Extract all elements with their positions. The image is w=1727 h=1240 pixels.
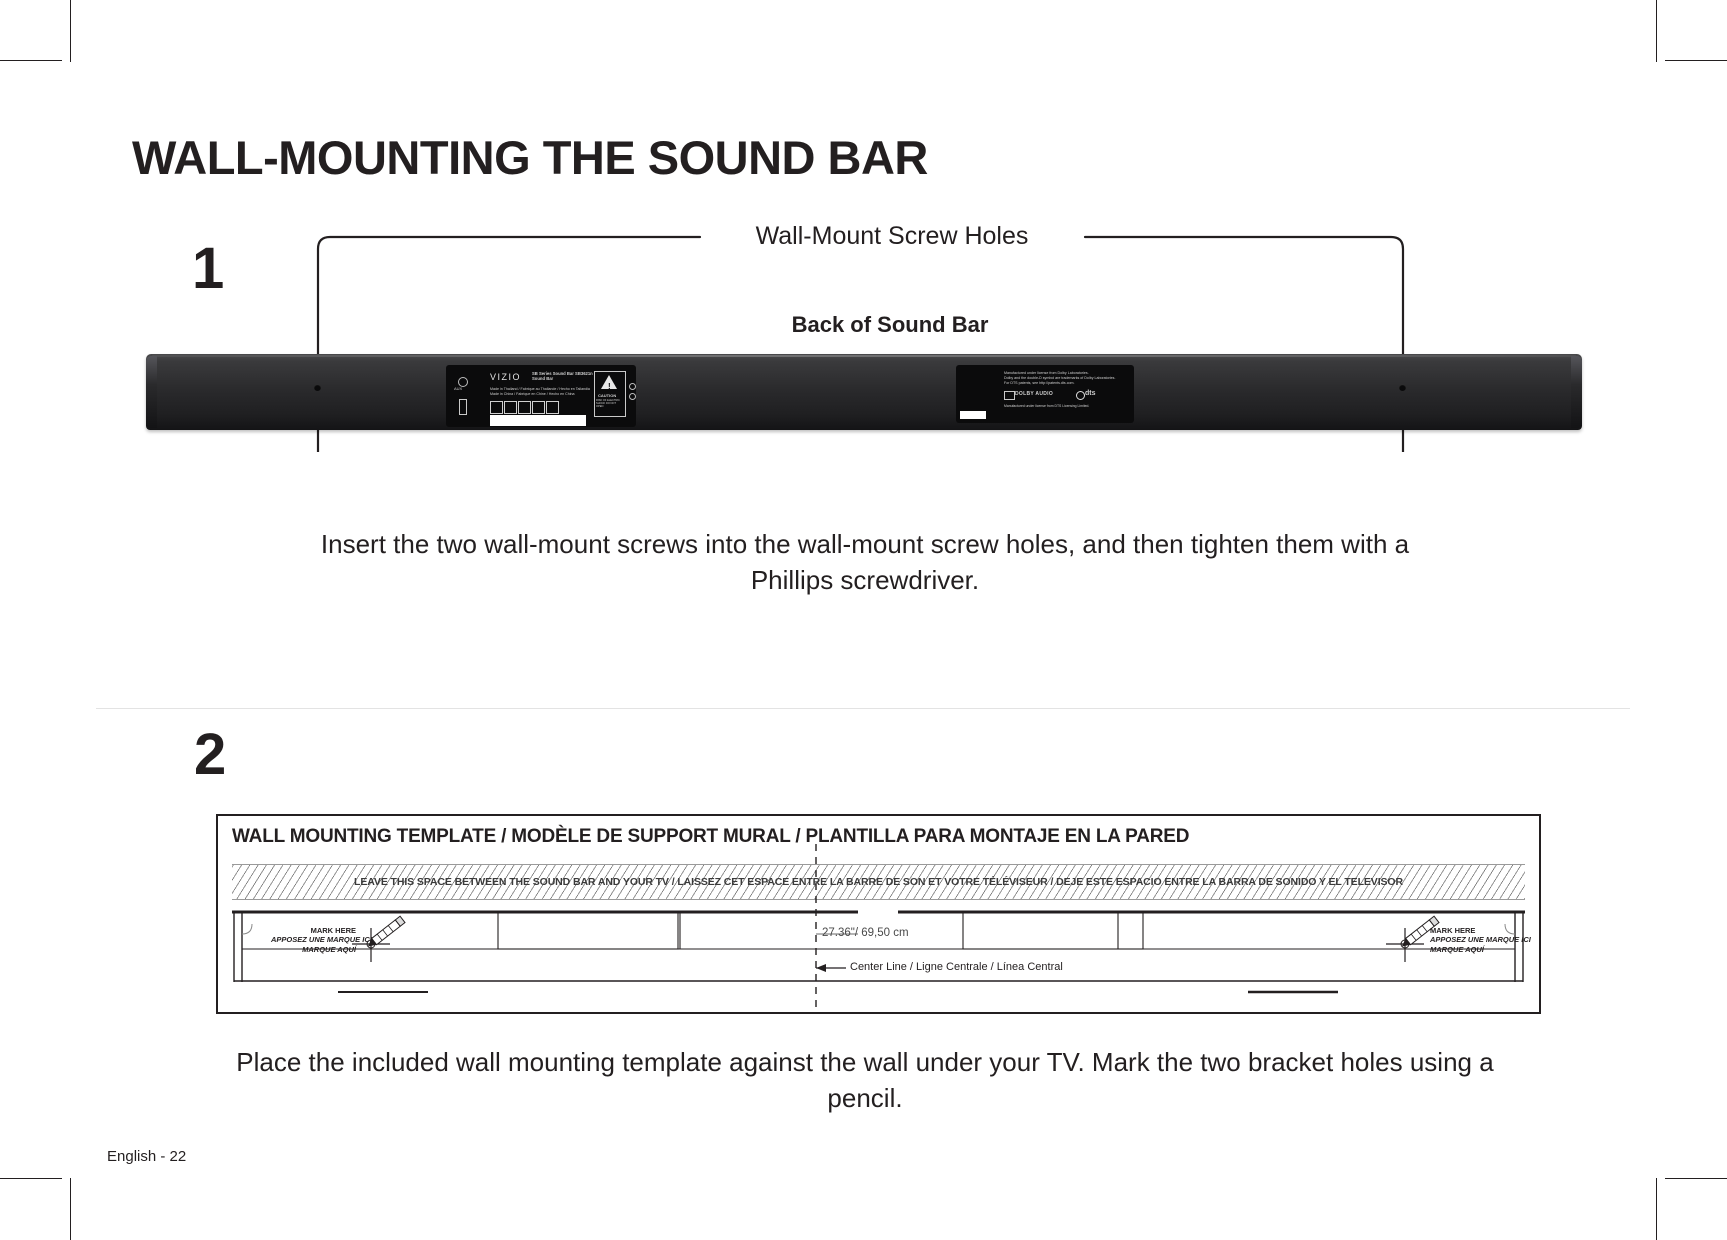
mark-here-left-fr: APPOSEZ UNE MARQUE ICI [271,935,372,944]
compliance-icon-4 [532,401,545,414]
wall-mounting-template-graphic: WALL MOUNTING TEMPLATE / MODÈLE DE SUPPO… [216,814,1541,1014]
warning-exclamation-icon: ! [608,383,611,391]
template-outline-drawing [218,816,1539,1012]
mark-here-left-en: MARK HERE [311,926,356,935]
dolby-legal-line-2: Dolby and the double-D symbol are tradem… [1004,376,1115,380]
sound-bar-origin-line-1: Made in Thailand / Fabrique au Thailande… [490,387,590,391]
compliance-icon-1 [490,401,503,414]
compliance-icon-5 [546,401,559,414]
template-mark-here-left: MARK HERE APPOSEZ UNE MARQUE ICI MARQUE … [271,926,356,954]
crop-mark-bottom-left-horizontal [0,1178,62,1179]
wall-mount-screw-hole-left [314,384,321,391]
step-1-instruction: Insert the two wall-mount screws into th… [290,527,1440,599]
dts-glyph-icon [1076,391,1085,400]
step-number-1: 1 [192,240,224,298]
vizio-brand-mark: VIZIO [490,372,521,382]
crop-mark-top-right-horizontal [1665,60,1727,61]
crop-mark-top-right-vertical [1656,0,1657,62]
dts-legal-line-2: Manufactured under license from DTS Lice… [1004,405,1089,409]
mark-here-right-fr: APPOSEZ UNE MARQUE ICI [1430,935,1531,944]
sound-bar-illustration: AUX VIZIO SB Series Sound Bar SB3621n So… [146,354,1582,438]
callout-back-of-sound-bar: Back of Sound Bar [700,312,1080,338]
step-number-2: 2 [194,726,226,784]
sound-bar-left-label-panel: AUX VIZIO SB Series Sound Bar SB3621n So… [446,365,636,427]
mark-here-right-en: MARK HERE [1430,926,1475,935]
sound-bar-origin-line-2: Made in China / Fabrique en Chine / Hech… [490,392,575,396]
usb-port-icon [459,399,467,415]
power-port-icon [629,383,636,390]
compliance-icon-2 [504,401,517,414]
sound-bar-body: AUX VIZIO SB Series Sound Bar SB3621n So… [146,354,1582,430]
template-mark-here-right: MARK HERE APPOSEZ UNE MARQUE ICI MARQUE … [1430,926,1525,954]
right-panel-marker [960,411,986,419]
caution-label: CAUTION [598,394,616,399]
template-center-line-label: Center Line / Ligne Centrale / Línea Cen… [850,961,1063,973]
crop-mark-bottom-left-vertical [70,1178,71,1240]
dolby-legal-line-1: Manufactured under license from Dolby La… [1004,371,1089,375]
mark-here-right-es: MARQUE AQUÍ [1430,945,1484,954]
crop-mark-top-left-vertical [70,0,71,62]
aux-port-label: AUX [454,387,462,392]
page-footer: English - 22 [107,1148,186,1165]
section-divider [96,708,1630,709]
sound-bar-model-line-2: Sound Bar [532,377,553,382]
dts-logo-text: dts [1085,390,1096,398]
sound-bar-top-highlight [152,355,1576,357]
dolby-audio-logo-text: DOLBY AUDIO [1015,392,1053,398]
barcode-strip [490,415,586,426]
crop-mark-bottom-right-vertical [1656,1178,1657,1240]
dts-legal-line-1: For DTS patents, see http://patents.dts.… [1004,381,1075,385]
sound-bar-right-label-panel: Manufactured under license from Dolby La… [956,365,1134,423]
crop-mark-top-left-horizontal [0,60,62,61]
mark-here-left-es: MARQUE AQUÍ [302,945,356,954]
crop-mark-bottom-right-horizontal [1665,1178,1727,1179]
compliance-icon-3 [518,401,531,414]
page-title: WALL-MOUNTING THE SOUND BAR [132,130,928,185]
sound-bar-end-cap-right [1571,356,1582,428]
callout-wall-mount-screw-holes: Wall-Mount Screw Holes [712,222,1072,251]
status-led-icon [629,393,636,400]
wall-mount-screw-hole-right [1399,384,1406,391]
template-measurement-label: 27.36"/ 69,50 cm [822,927,909,939]
sound-bar-end-cap-left [146,356,157,428]
caution-body-text: RISK OF ELECTRIC SHOCK DO NOT OPEN [596,400,624,409]
dolby-double-d-icon [1004,391,1015,400]
step-2-instruction: Place the included wall mounting templat… [230,1045,1500,1117]
